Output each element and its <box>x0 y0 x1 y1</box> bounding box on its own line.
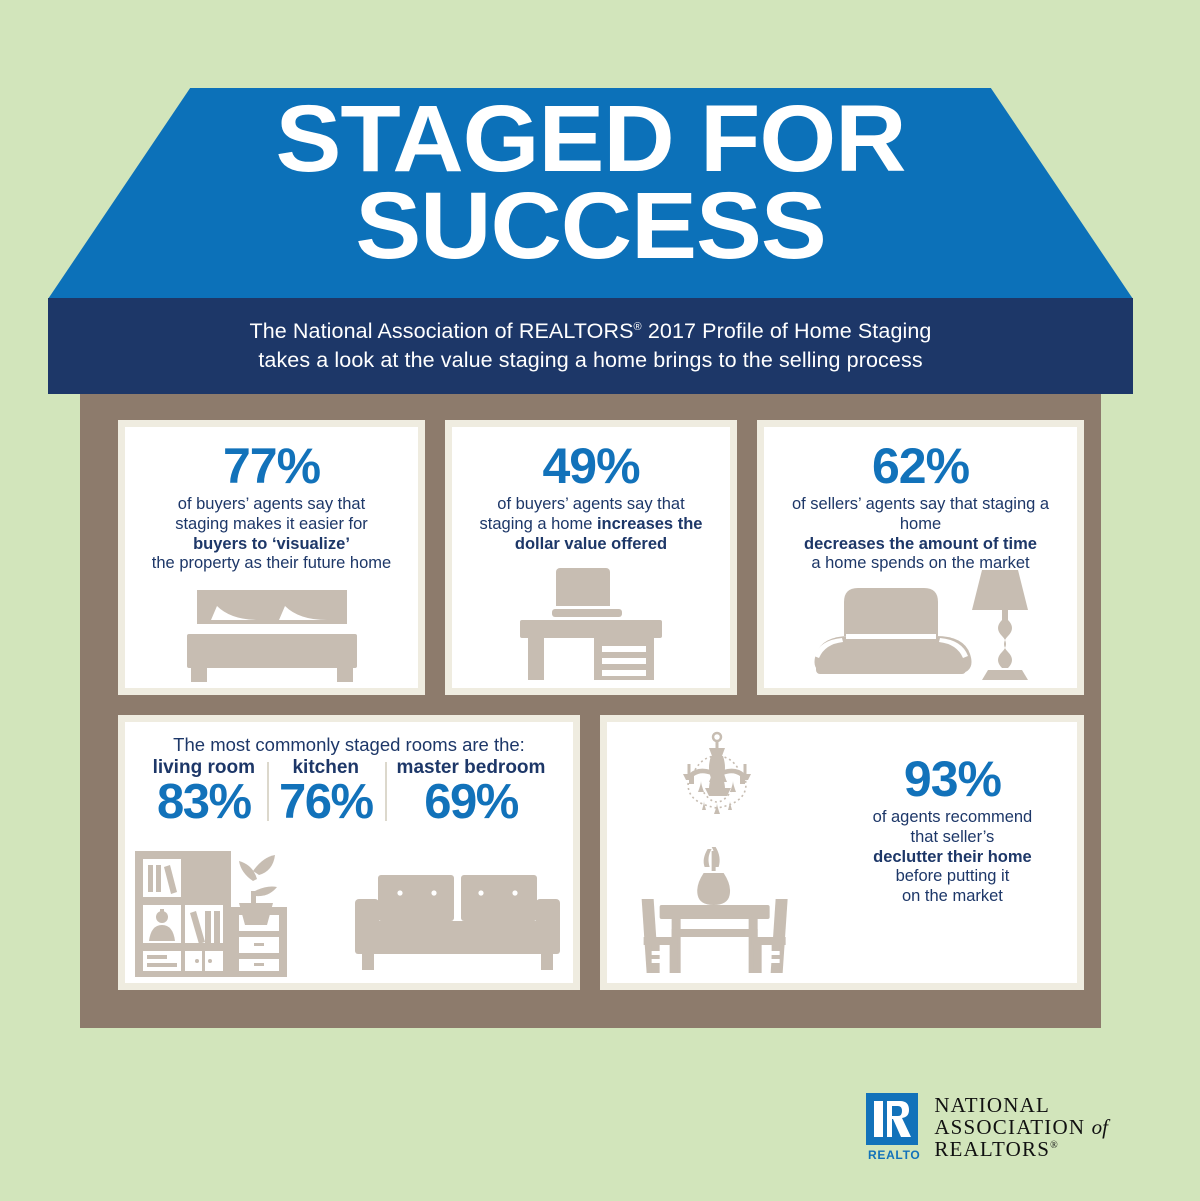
stat-percent-77: 77% <box>125 441 418 491</box>
stat-percent-93: 93% <box>828 754 1077 804</box>
dining-table-icon <box>630 843 798 975</box>
realtor-wordmark: REALTOR <box>868 1148 920 1162</box>
line: staging makes it easier for <box>175 515 368 533</box>
stat-percent-62: 62% <box>764 441 1077 491</box>
bed-icon-wrap <box>125 590 418 682</box>
logo-line-1: NATIONAL <box>934 1095 1108 1117</box>
stat-text-dollar-value: of buyers’ agents say that staging a hom… <box>460 495 722 554</box>
chandelier-icon <box>661 730 773 834</box>
room-percent: 83% <box>153 778 255 827</box>
declutter-text-block: 93% of agents recommend that seller’s de… <box>828 722 1077 983</box>
stat-card-time-on-market: 62% of sellers’ agents say that staging … <box>757 420 1084 695</box>
bed-icon <box>177 590 367 682</box>
infographic-canvas: STAGED FOR SUCCESS The National Associat… <box>0 0 1200 1201</box>
nar-logo: REALTOR NATIONAL ASSOCIATION of REALTORS… <box>864 1093 1108 1163</box>
declutter-text: of agents recommend that seller’s declut… <box>836 808 1069 907</box>
line: before putting it <box>896 867 1010 885</box>
subtitle-band: The National Association of REALTORS® 20… <box>48 298 1133 394</box>
rooms-icons <box>125 851 573 979</box>
armchair-lamp-icon <box>806 566 1036 682</box>
subtitle-pre: The National Association of REALTORS <box>250 319 634 343</box>
line: of buyers’ agents say that <box>497 495 684 513</box>
stat-card-dollar-value-inner: 49% of buyers’ agents say that staging a… <box>452 427 730 688</box>
declutter-card: 93% of agents recommend that seller’s de… <box>600 715 1084 990</box>
room-living-room: living room 83% <box>141 758 267 827</box>
stat-card-visualize: 77% of buyers’ agents say that staging m… <box>118 420 425 695</box>
line: of buyers’ agents say that <box>178 495 365 513</box>
roof-banner: STAGED FOR SUCCESS <box>48 88 1133 299</box>
room-kitchen: kitchen 76% <box>267 758 385 827</box>
nar-wordmark: NATIONAL ASSOCIATION of REALTORS® <box>934 1095 1108 1160</box>
desk-icon <box>516 564 666 682</box>
declutter-grid: 93% of agents recommend that seller’s de… <box>607 722 1077 983</box>
subtitle-post: 2017 Profile of Home Staging <box>642 319 932 343</box>
room-percent: 76% <box>279 778 373 827</box>
title-line-2: SUCCESS <box>26 183 1154 270</box>
stat-percent-49: 49% <box>452 441 730 491</box>
stat-card-visualize-inner: 77% of buyers’ agents say that staging m… <box>125 427 418 688</box>
stat-text-visualize: of buyers’ agents say that staging makes… <box>133 495 410 574</box>
desk-icon-wrap <box>452 564 730 682</box>
line: staging a home <box>480 515 597 533</box>
page-title: STAGED FOR SUCCESS <box>26 96 1154 271</box>
armchair-lamp-icon-wrap <box>764 566 1077 682</box>
subtitle-line-2: takes a look at the value staging a home… <box>258 346 922 375</box>
registered-mark-icon: ® <box>634 321 642 333</box>
rooms-card-inner: The most commonly staged rooms are the: … <box>125 722 573 983</box>
room-master-bedroom: master bedroom 69% <box>385 758 558 827</box>
room-percent: 69% <box>397 778 546 827</box>
line-bold: increases the <box>597 515 702 533</box>
stat-card-dollar-value: 49% of buyers’ agents say that staging a… <box>445 420 737 695</box>
line: of agents recommend <box>873 808 1033 826</box>
realtor-r-icon: REALTOR <box>864 1093 920 1163</box>
line-bold: decreases the amount of time <box>804 535 1037 553</box>
line-bold: dollar value offered <box>515 535 667 553</box>
line: of sellers’ agents say that staging a ho… <box>792 495 1049 533</box>
logo-line-2: ASSOCIATION of <box>934 1117 1108 1139</box>
sofa-icon <box>350 871 565 975</box>
stat-text-time-on-market: of sellers’ agents say that staging a ho… <box>772 495 1069 574</box>
rooms-card: The most commonly staged rooms are the: … <box>118 715 580 990</box>
rooms-heading: The most commonly staged rooms are the: <box>125 734 573 756</box>
bookshelf-icon <box>135 851 287 977</box>
logo-line-3: REALTORS® <box>934 1139 1108 1161</box>
declutter-card-inner: 93% of agents recommend that seller’s de… <box>607 722 1077 983</box>
subtitle-line-1: The National Association of REALTORS® 20… <box>250 317 932 346</box>
line: the property as their future home <box>152 554 391 572</box>
line: on the market <box>902 887 1003 905</box>
declutter-icons <box>607 722 828 983</box>
rooms-row: living room 83% kitchen 76% master bedro… <box>125 758 573 827</box>
title-line-1: STAGED FOR <box>26 96 1154 183</box>
stat-card-time-on-market-inner: 62% of sellers’ agents say that staging … <box>764 427 1077 688</box>
line-bold: declutter their home <box>873 848 1032 866</box>
line-bold: buyers to ‘visualize’ <box>193 535 350 553</box>
line: that seller’s <box>911 828 995 846</box>
